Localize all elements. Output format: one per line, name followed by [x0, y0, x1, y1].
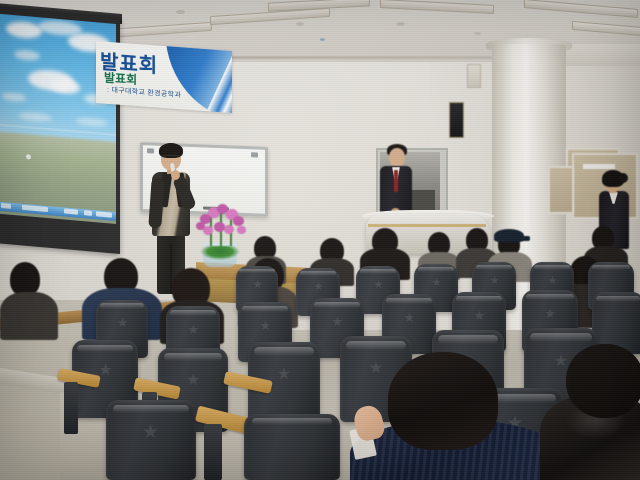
seat-star-emblem: ★ — [142, 421, 162, 434]
ceiling-vent — [176, 10, 185, 14]
seat-star-emblem: ★ — [260, 318, 272, 328]
seat-star-emblem: ★ — [404, 310, 416, 320]
seat-star-emblem: ★ — [548, 274, 558, 282]
auditorium-photo: 발표회 발표회 : 대구대학교 환경공학과 — [0, 0, 640, 480]
ceiling-sensor — [320, 38, 325, 41]
slide-detail-dot — [26, 154, 31, 159]
ceiling-vent — [396, 22, 405, 26]
wall-mounted-speaker-icon — [449, 102, 464, 138]
ceiling-vent — [296, 22, 304, 26]
auditorium-seat[interactable]: ★ — [106, 400, 196, 480]
suited-man-necktie — [394, 170, 398, 192]
audience-head — [10, 262, 40, 296]
banner-organization: : 대구대학교 환경공학과 — [107, 85, 181, 100]
wall-mounted-box — [467, 64, 481, 88]
foreground-attendee-head — [566, 344, 640, 418]
ceiling-light-fixture — [380, 0, 494, 14]
lectern-trim — [368, 224, 486, 227]
seat-star-emblem: ★ — [314, 280, 324, 288]
event-banner: 발표회 발표회 : 대구대학교 환경공학과 — [96, 41, 232, 113]
suited-man-head — [389, 148, 405, 167]
seat-star-emblem: ★ — [369, 358, 385, 372]
seat-star-emblem: ★ — [374, 278, 384, 286]
seat-star-emblem: ★ — [490, 274, 500, 282]
bulletin-board-label — [583, 164, 615, 170]
ceiling-light-fixture — [572, 21, 640, 36]
seat-star-emblem: ★ — [432, 276, 442, 284]
seat-star-emblem: ★ — [188, 322, 200, 332]
seat-star-emblem: ★ — [474, 308, 486, 318]
seat-star-emblem: ★ — [332, 314, 344, 324]
presenter-hand — [171, 170, 180, 180]
foreground-attendee-head — [388, 352, 498, 450]
corner-soffit — [560, 44, 640, 66]
seat-armrest-post — [64, 382, 78, 434]
whiteboard-clip — [251, 152, 258, 157]
bulletin-board — [548, 166, 574, 214]
orchid-leaves — [200, 246, 240, 260]
seat-star-emblem: ★ — [98, 360, 113, 372]
eyeglasses-icon — [162, 155, 180, 160]
auditorium-seat[interactable] — [244, 414, 340, 480]
audience-shoulders — [0, 292, 58, 340]
seat-star-emblem: ★ — [117, 315, 128, 324]
baseball-cap-brim — [518, 236, 530, 241]
standing-woman-hair-bun — [618, 173, 628, 183]
ceiling-vent — [474, 32, 481, 35]
seat-star-emblem: ★ — [253, 278, 262, 285]
seat-star-emblem: ★ — [277, 364, 293, 378]
seat-star-emblem: ★ — [186, 370, 201, 383]
banner-swoosh-graphic — [166, 41, 232, 113]
seat-star-emblem: ★ — [554, 351, 570, 365]
seat-star-emblem: ★ — [544, 306, 556, 316]
seat-armrest-post — [204, 424, 222, 480]
ceiling-light-fixture — [524, 0, 638, 18]
whiteboard-clip — [147, 148, 154, 153]
